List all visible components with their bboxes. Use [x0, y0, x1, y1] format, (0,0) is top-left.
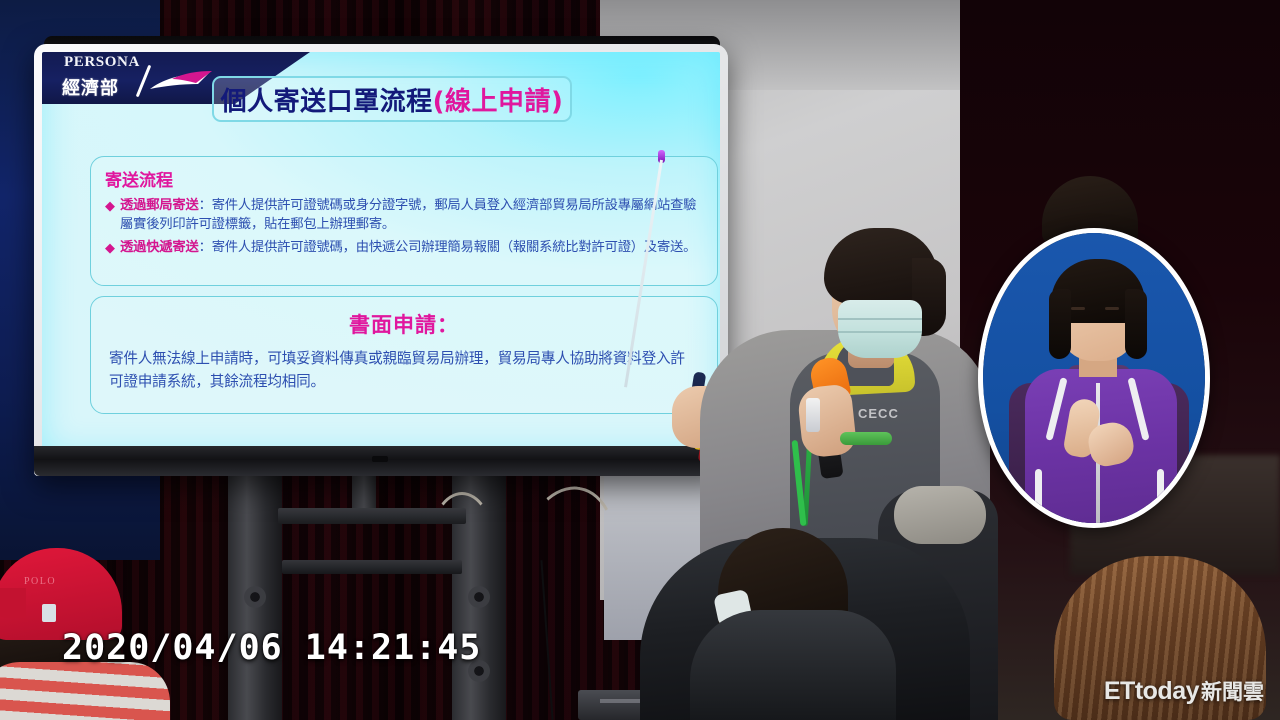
bullet-courier-label: 透過快遞寄送 [120, 240, 199, 255]
broadcast-frame: PERSONA 經濟部 個人寄送口罩流程(線上申請) 寄送流程 [0, 0, 1280, 720]
shipping-process-bullets: ◆ 透過郵局寄送：寄件人提供許可證號碼或身分證字號，郵局人員登入經濟部貿易局所設… [105, 196, 705, 257]
shipping-process-box: 寄送流程 ◆ 透過郵局寄送：寄件人提供許可證號碼或身分證字號，郵局人員登入經濟部… [90, 156, 718, 286]
bullet-post-office-text: ：寄件人提供許可證號碼或身分證字號，郵局人員登入經濟部貿易局所設專屬網站查驗屬實… [120, 198, 696, 232]
paper-application-body: 寄件人無法線上申請時，可填妥資料傳真或親臨貿易局辦理，貿易局專人協助將資料登入許… [107, 347, 701, 393]
broadcaster-watermark: ETtoday 新聞雲 [1104, 676, 1264, 706]
bullet-post-office: ◆ 透過郵局寄送：寄件人提供許可證號碼或身分證字號，郵局人員登入經濟部貿易局所設… [105, 196, 705, 234]
interpreter-sleeve-trim-left [1035, 469, 1042, 528]
broadcast-timestamp: 2020/04/06 14:21:45 [62, 628, 481, 668]
slide-screen: PERSONA 經濟部 個人寄送口罩流程(線上申請) 寄送流程 [42, 52, 720, 454]
display-cable-loop [430, 492, 494, 590]
speaker-face-mask [838, 300, 922, 358]
diamond-bullet-icon: ◆ [105, 196, 115, 215]
watermark-cjk-text: 新聞雲 [1201, 676, 1264, 706]
audience-person-left-striped-shirt [0, 662, 170, 720]
bullet-post-office-label: 透過郵局寄送 [120, 198, 199, 213]
paper-application-heading: 書面申請： [107, 309, 701, 339]
display-status-led [372, 456, 388, 462]
shipping-process-heading: 寄送流程 [105, 166, 705, 191]
slide-title-parenthetical: (線上申請) [433, 81, 564, 118]
slide-title-main: 個人寄送口罩流程 [221, 81, 433, 118]
audience-person-center-hood [690, 610, 896, 720]
audience-cap-brim [0, 588, 26, 618]
moea-swoosh-icon [148, 70, 214, 96]
stand-vent-right [468, 586, 490, 608]
speaker-vest-text: CECC [858, 406, 898, 428]
interpreter-hair-right [1125, 289, 1147, 359]
brand-persona-label: PERSONA [64, 54, 140, 71]
speaker-green-wristband [840, 432, 892, 445]
brand-ministry-label: 經濟部 [62, 74, 119, 100]
speaker-id-pass [806, 398, 820, 432]
stand-vent-left [244, 586, 266, 608]
diamond-bullet-icon-2: ◆ [105, 238, 115, 257]
watermark-latin-text: ETtoday [1104, 677, 1199, 706]
audience-cap-text: POLO [24, 576, 56, 587]
bullet-courier: ◆ 透過快遞寄送：寄件人提供許可證號碼，由快遞公司辦理簡易報關（報關系統比對許可… [105, 238, 705, 257]
interpreter-eye-right [1105, 307, 1119, 310]
interpreter-sleeve-trim-right [1157, 469, 1164, 528]
interpreter-hair-left [1049, 289, 1071, 359]
sign-language-interpreter-inset [978, 228, 1210, 528]
audience-scarf [894, 486, 986, 544]
interpreter-eye-left [1071, 307, 1085, 310]
audience-cap-buckle [42, 604, 56, 622]
presentation-display: PERSONA 經濟部 個人寄送口罩流程(線上申請) 寄送流程 [34, 44, 728, 476]
paper-application-box: 書面申請： 寄件人無法線上申請時，可填妥資料傳真或親臨貿易局辦理，貿易局專人協助… [90, 296, 718, 414]
slide-title: 個人寄送口罩流程(線上申請) [212, 76, 572, 122]
bullet-courier-text: ：寄件人提供許可證號碼，由快遞公司辦理簡易報關（報關系統比對許可證）及寄送。 [199, 240, 697, 255]
